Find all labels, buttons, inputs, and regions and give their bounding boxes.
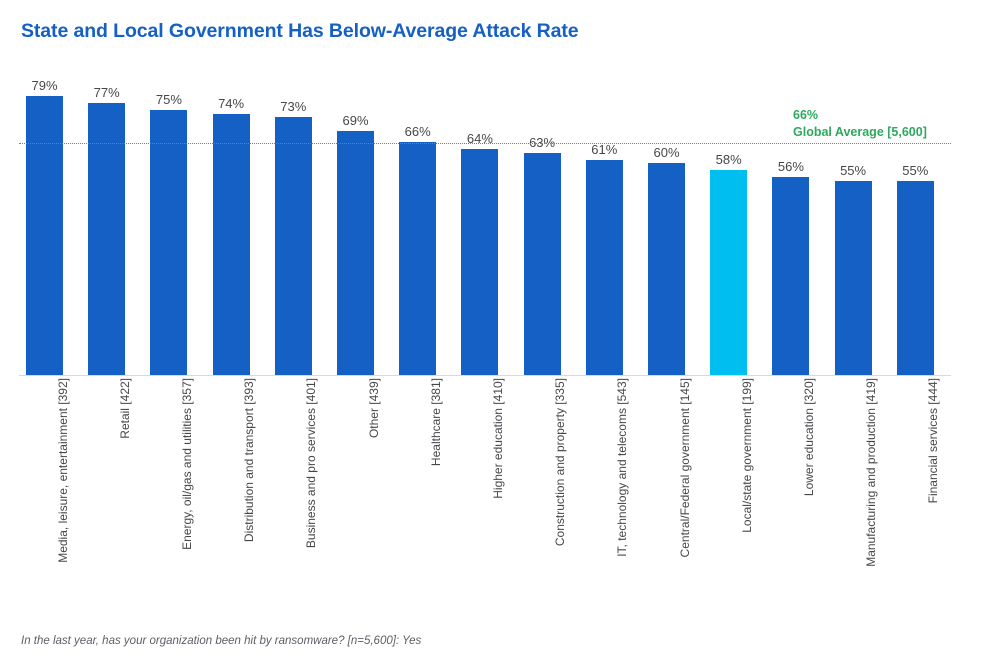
category-label-text: Retail [422] — [119, 378, 132, 439]
bar-value-label: 74% — [206, 96, 257, 111]
category-label-column: Central/Federal government [145] — [641, 378, 702, 593]
category-label-column: Distribution and transport [393] — [206, 378, 267, 593]
category-label-text: Manufacturing and production [419] — [865, 378, 878, 567]
bar-column[interactable]: 55% — [890, 0, 951, 376]
category-label: Higher education [410] — [492, 257, 505, 378]
category-label-text: Distribution and transport [393] — [243, 378, 256, 542]
bar-column[interactable]: 74% — [206, 0, 267, 376]
category-label-text: Local/state government [199] — [741, 378, 754, 533]
bar-column[interactable]: 79% — [19, 0, 80, 376]
category-label-text: Media, leisure, entertainment [392] — [57, 378, 70, 563]
bar-value-label: 55% — [890, 163, 941, 178]
bar-value-label: 75% — [143, 92, 194, 107]
bar-column[interactable]: 63% — [517, 0, 578, 376]
bar-value-label: 79% — [19, 78, 70, 93]
category-label-column: Other [439] — [330, 378, 391, 593]
bar-column[interactable]: 58% — [703, 0, 764, 376]
category-label-column: Retail [422] — [81, 378, 142, 593]
average-annotation: 66% Global Average [5,600] — [793, 107, 927, 141]
category-label: Healthcare [381] — [430, 290, 443, 378]
category-label: Media, leisure, entertainment [392] — [57, 193, 70, 378]
category-label-column: Healthcare [381] — [392, 378, 453, 593]
category-label: Energy, oil/gas and utilities [357] — [181, 206, 194, 378]
category-label-text: Energy, oil/gas and utilities [357] — [181, 378, 194, 550]
bar-value-label: 73% — [268, 99, 319, 114]
category-label-text: Construction and property [335] — [554, 378, 567, 546]
footnote: In the last year, has your organization … — [21, 635, 421, 647]
category-label-column: Local/state government [199] — [703, 378, 764, 593]
average-reference-line — [19, 143, 951, 144]
category-label-column: Financial services [444] — [890, 378, 951, 593]
category-label-text: Other [439] — [368, 378, 381, 438]
bar-value-label: 58% — [703, 152, 754, 167]
category-label: IT, technology and telecoms [543] — [616, 199, 629, 378]
category-label-column: IT, technology and telecoms [543] — [579, 378, 640, 593]
category-label: Retail [422] — [119, 317, 132, 378]
category-label: Manufacturing and production [419] — [865, 189, 878, 378]
bar-value-label: 77% — [81, 85, 132, 100]
bar-column[interactable]: 55% — [828, 0, 889, 376]
category-label: Other [439] — [368, 318, 381, 378]
category-label-text: Financial services [444] — [927, 378, 940, 503]
category-label: Construction and property [335] — [554, 210, 567, 378]
average-value-label: 66% — [793, 107, 927, 124]
category-label-text: IT, technology and telecoms [543] — [616, 378, 629, 557]
bar-value-label: 55% — [828, 163, 879, 178]
category-label-column: Manufacturing and production [419] — [828, 378, 889, 593]
bar-value-label: 66% — [392, 124, 443, 139]
category-axis-labels: Media, leisure, entertainment [392]Retai… — [0, 378, 981, 593]
bar-column[interactable]: 66% — [392, 0, 453, 376]
category-label-text: Central/Federal government [145] — [679, 378, 692, 557]
bar-column[interactable]: 77% — [81, 0, 142, 376]
category-label-column: Higher education [410] — [454, 378, 515, 593]
category-label: Central/Federal government [145] — [679, 199, 692, 378]
category-label: Local/state government [199] — [741, 223, 754, 378]
bar-column[interactable]: 73% — [268, 0, 329, 376]
average-text-label: Global Average [5,600] — [793, 124, 927, 141]
category-label-text: Healthcare [381] — [430, 378, 443, 466]
category-label-column: Lower education [320] — [765, 378, 826, 593]
category-label: Financial services [444] — [927, 253, 940, 378]
bar-column[interactable]: 61% — [579, 0, 640, 376]
category-label-text: Higher education [410] — [492, 378, 505, 499]
bar-column[interactable]: 64% — [454, 0, 515, 376]
bar-column[interactable]: 60% — [641, 0, 702, 376]
category-label: Lower education [320] — [803, 260, 816, 378]
bar-column[interactable]: 56% — [765, 0, 826, 376]
category-label: Distribution and transport [393] — [243, 214, 256, 378]
bar-column[interactable]: 69% — [330, 0, 391, 376]
bar-column[interactable]: 75% — [143, 0, 204, 376]
category-label-column: Energy, oil/gas and utilities [357] — [143, 378, 204, 593]
category-label-text: Lower education [320] — [803, 378, 816, 496]
bar-value-label: 56% — [765, 159, 816, 174]
category-label-text: Business and pro services [401] — [305, 378, 318, 548]
bar-value-label: 69% — [330, 113, 381, 128]
bar-value-label: 60% — [641, 145, 692, 160]
category-label: Business and pro services [401] — [305, 208, 318, 378]
category-label-column: Media, leisure, entertainment [392] — [19, 378, 80, 593]
category-label-column: Business and pro services [401] — [268, 378, 329, 593]
category-label-column: Construction and property [335] — [517, 378, 578, 593]
plot-area: 79%77%75%74%73%69%66%64%63%61%60%58%56%5… — [0, 0, 981, 376]
